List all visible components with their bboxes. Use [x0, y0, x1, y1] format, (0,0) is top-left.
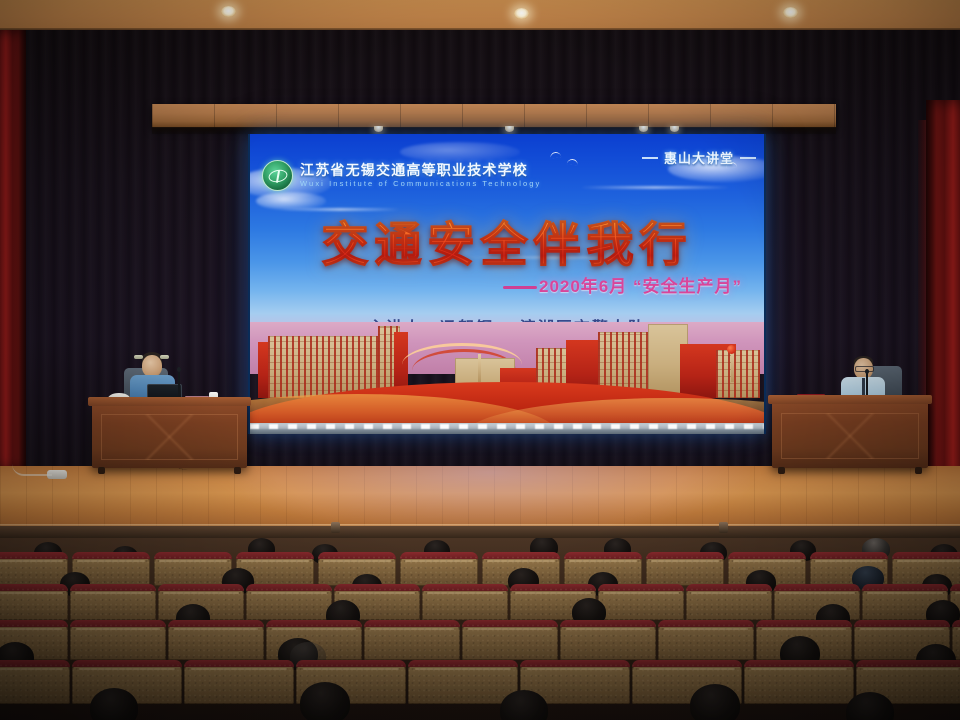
- institution-name-cn: 江苏省无锡交通高等职业技术学校: [300, 163, 541, 178]
- banner-dash-right: [740, 157, 756, 159]
- table-left-panel-inlay: [101, 414, 237, 460]
- institution-lockup: 江苏省无锡交通高等职业技术学校 Wuxi Institute of Commun…: [262, 160, 541, 191]
- lecture-series-banner: 惠山大讲堂: [642, 148, 756, 167]
- campus-skyline-graphic: [250, 322, 764, 434]
- slide-main-title: 交通安全伴我行: [250, 206, 764, 275]
- institution-name-en: Wuxi Institute of Communications Technol…: [300, 180, 541, 188]
- stage-valance-beam: [152, 104, 836, 128]
- seat[interactable]: [184, 664, 294, 704]
- seat[interactable]: [364, 624, 460, 660]
- seat[interactable]: [168, 624, 264, 660]
- officer-shoulder-board-right: [160, 355, 169, 359]
- floor-cable-left: [12, 464, 52, 476]
- seat[interactable]: [0, 588, 68, 620]
- speaker-table-left: [92, 404, 247, 468]
- seat[interactable]: [246, 588, 332, 620]
- campus-building-right-5: [716, 350, 760, 398]
- seat[interactable]: [744, 664, 854, 704]
- audience-head: [300, 682, 350, 720]
- subtitle-dash: [503, 286, 537, 289]
- seat[interactable]: [154, 556, 232, 586]
- speaker-table-right: [772, 402, 928, 468]
- subtitle-quote: “安全生产月”: [633, 277, 742, 296]
- officer-shoulder-board-left: [134, 355, 143, 359]
- table-left-leg-2: [234, 467, 241, 474]
- campus-mast: [478, 354, 481, 382]
- audience-head: [90, 688, 138, 720]
- seat[interactable]: [462, 624, 558, 660]
- seat[interactable]: [0, 556, 68, 586]
- seat[interactable]: [408, 664, 518, 704]
- seat[interactable]: [422, 588, 508, 620]
- led-presentation-screen: 惠山大讲堂 江苏省无锡交通高等职业技术学校 Wuxi Institute of …: [248, 134, 766, 434]
- institution-names: 江苏省无锡交通高等职业技术学校 Wuxi Institute of Commun…: [300, 163, 541, 188]
- microphone-right: [866, 372, 868, 396]
- green-circular-emblem-icon: [262, 160, 293, 191]
- table-left-leg-1: [98, 467, 105, 474]
- stage-floor-reflection: [230, 466, 750, 530]
- seat[interactable]: [686, 588, 772, 620]
- table-right-leg-2: [915, 467, 922, 474]
- table-left-top-edge: [88, 397, 251, 406]
- table-right-panel-inlay: [781, 413, 918, 460]
- seat[interactable]: [400, 556, 478, 586]
- valance-lamp-4: [670, 126, 679, 132]
- slide-subtitle: 2020年6月 “安全生产月”: [503, 272, 742, 297]
- ceiling-panel: [0, 0, 960, 30]
- auditorium-lecture-photo: 惠山大讲堂 江苏省无锡交通高等职业技术学校 Wuxi Institute of …: [0, 0, 960, 720]
- seat[interactable]: [658, 624, 754, 660]
- screen-bottom-light-bar: [250, 423, 764, 434]
- campus-lamp-globe: [727, 345, 736, 354]
- officer-head: [142, 355, 162, 377]
- table-right-leg-1: [778, 467, 785, 474]
- stage-edge-clip-right: [719, 522, 728, 533]
- cloud-wisp-2: [580, 186, 730, 189]
- banner-dash-left: [642, 157, 658, 159]
- valance-lamp-2: [505, 126, 514, 132]
- table-right-top-edge: [768, 395, 932, 404]
- subtitle-year: 2020年6月: [539, 277, 627, 296]
- banner-text: 惠山大讲堂: [664, 148, 734, 167]
- valance-lamp-3: [639, 126, 648, 132]
- ceiling-spotlight-left: [221, 6, 236, 17]
- cloud-mid-1: [400, 142, 520, 162]
- seat[interactable]: [598, 588, 684, 620]
- audience-head: [690, 684, 740, 720]
- seat[interactable]: [70, 588, 156, 620]
- audience-seating-area: [0, 538, 960, 720]
- side-curtain-right: [926, 100, 960, 480]
- side-curtain-left: [0, 30, 26, 470]
- window-grid-right-5: [716, 350, 760, 398]
- microphone-left: [178, 370, 180, 396]
- stage-edge-clip-left: [331, 522, 340, 533]
- seat[interactable]: [646, 556, 724, 586]
- ceiling-spotlight-right: [783, 7, 798, 18]
- valance-lamp-1: [374, 126, 383, 132]
- seat[interactable]: [0, 664, 70, 704]
- seat[interactable]: [560, 624, 656, 660]
- seat[interactable]: [70, 624, 166, 660]
- valance-shadow: [152, 127, 836, 134]
- ceiling-spotlight-center: [514, 8, 529, 19]
